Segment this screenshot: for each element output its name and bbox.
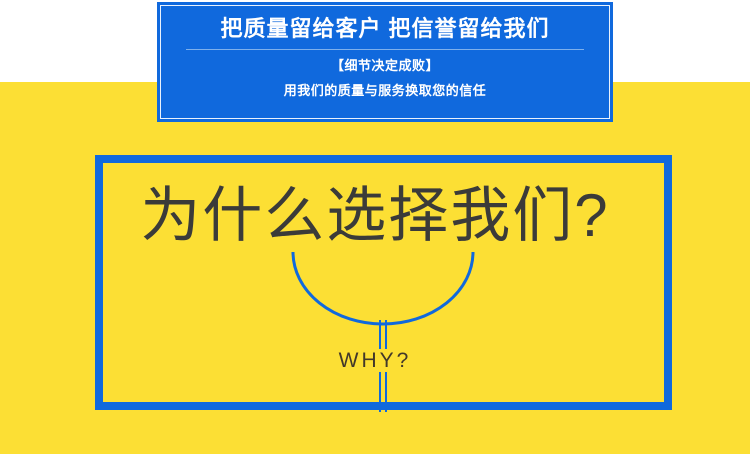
why-label: WHY?: [0, 350, 750, 371]
arc-connector: [283, 252, 483, 412]
page-title: 为什么选择我们?: [0, 186, 750, 246]
slogan-banner-inner-border: 把质量留给客户 把信誉留给我们 【细节决定成败】 用我们的质量与服务换取您的信任: [160, 5, 610, 119]
banner-divider: [186, 49, 584, 50]
why-label-text: WHY?: [329, 349, 422, 372]
arc-connector-svg: [283, 252, 483, 412]
slogan-banner: 把质量留给客户 把信誉留给我们 【细节决定成败】 用我们的质量与服务换取您的信任: [157, 2, 613, 122]
semicircle-arc-path: [293, 252, 473, 324]
banner-title: 把质量留给客户 把信誉留给我们: [220, 16, 549, 42]
banner-subtitle-secondary: 用我们的质量与服务换取您的信任: [284, 83, 487, 100]
poster-canvas: 把质量留给客户 把信誉留给我们 【细节决定成败】 用我们的质量与服务换取您的信任…: [0, 0, 750, 454]
banner-subtitle-primary: 【细节决定成败】: [331, 58, 439, 75]
